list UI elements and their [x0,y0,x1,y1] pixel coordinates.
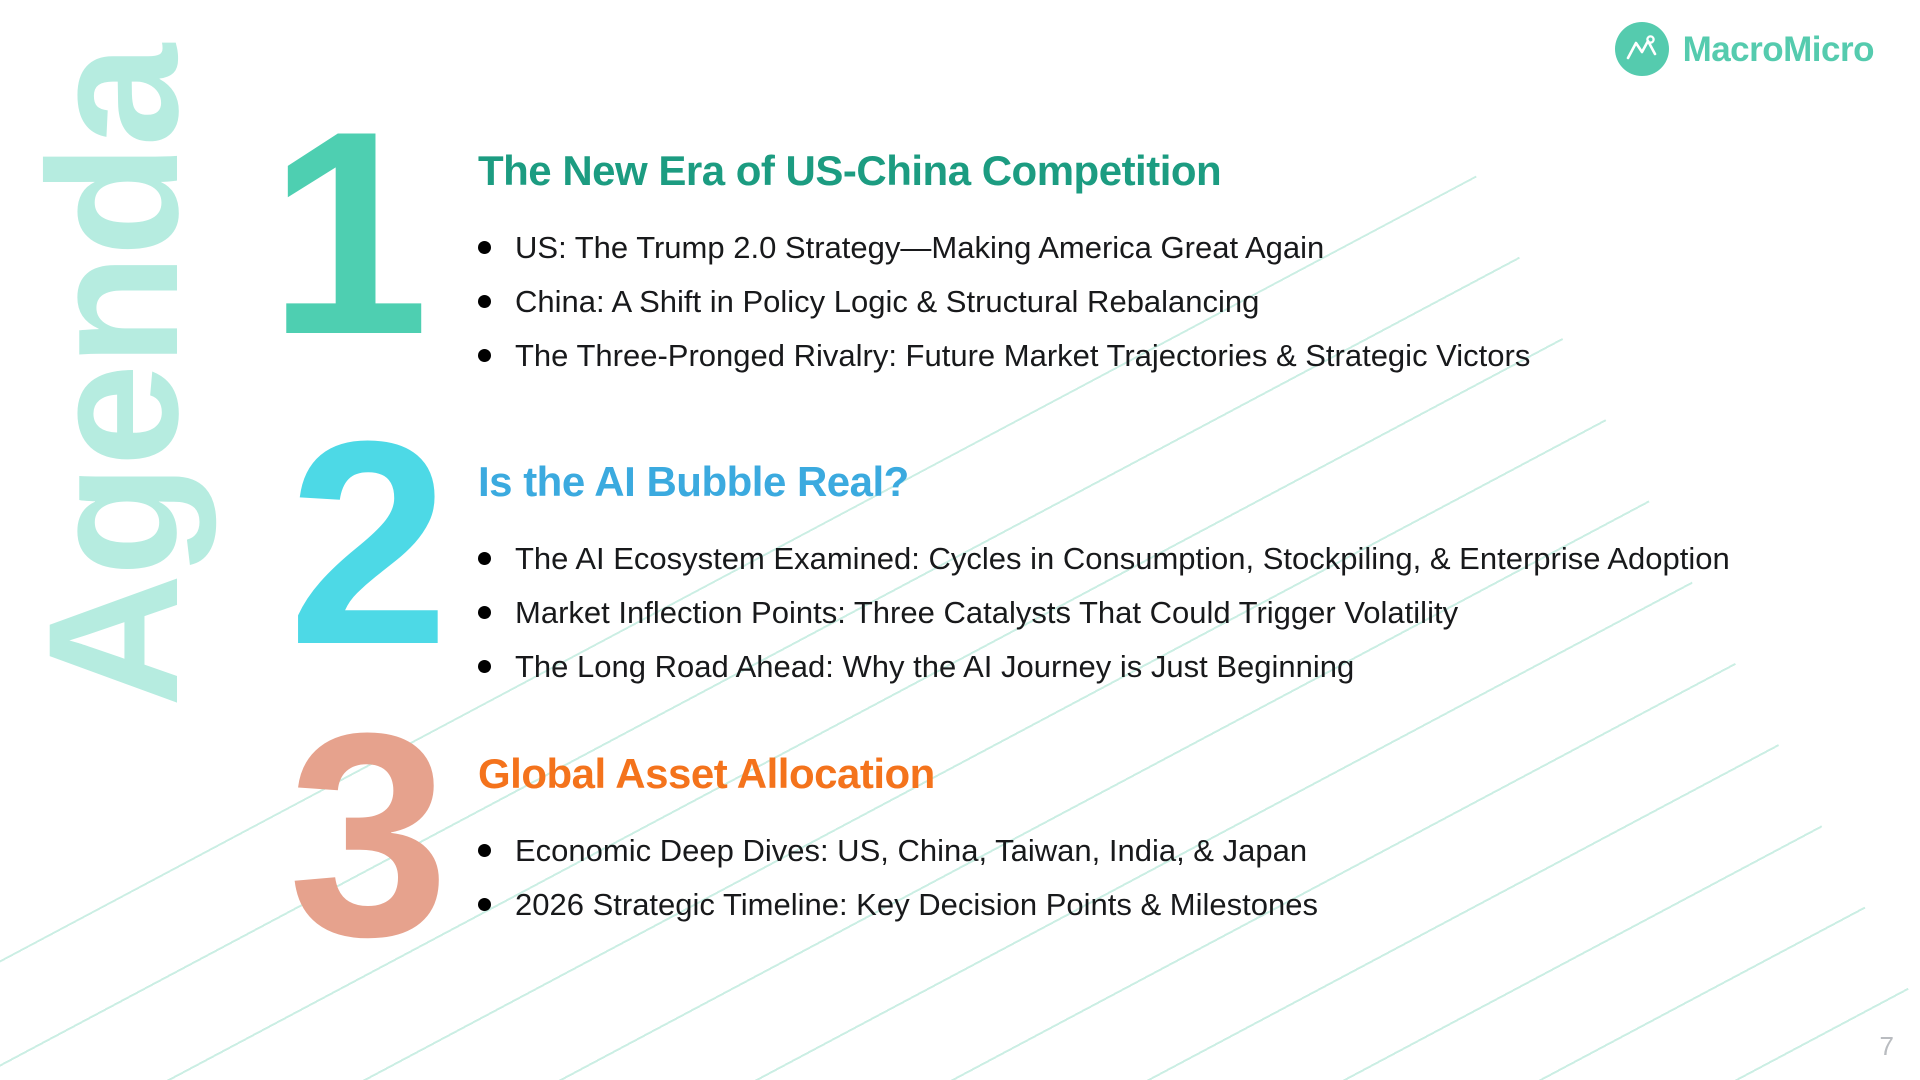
bullet-text: China: A Shift in Policy Logic & Structu… [515,286,1259,317]
list-item: Economic Deep Dives: US, China, Taiwan, … [478,835,1318,866]
agenda-sections: 1 The New Era of US-China Competition US… [0,0,1920,1080]
section-number-2: 2 [288,398,443,688]
bullet-dot-icon [478,295,491,308]
list-item: Market Inflection Points: Three Catalyst… [478,597,1730,628]
bullet-dot-icon [478,241,491,254]
section-title-1: The New Era of US-China Competition [478,148,1530,194]
list-item: The Three-Pronged Rivalry: Future Market… [478,340,1530,371]
section-bullets-3: Economic Deep Dives: US, China, Taiwan, … [478,835,1318,920]
section-number-1: 1 [268,88,423,378]
bullet-text: 2026 Strategic Timeline: Key Decision Po… [515,889,1318,920]
bullet-text: Market Inflection Points: Three Catalyst… [515,597,1458,628]
section-content-1: The New Era of US-China Competition US: … [478,148,1530,394]
bullet-dot-icon [478,606,491,619]
section-title-2: Is the AI Bubble Real? [478,459,1730,505]
bullet-dot-icon [478,349,491,362]
list-item: The AI Ecosystem Examined: Cycles in Con… [478,543,1730,574]
list-item: China: A Shift in Policy Logic & Structu… [478,286,1530,317]
section-bullets-2: The AI Ecosystem Examined: Cycles in Con… [478,543,1730,682]
bullet-text: US: The Trump 2.0 Strategy—Making Americ… [515,232,1324,263]
list-item: 2026 Strategic Timeline: Key Decision Po… [478,889,1318,920]
logo-wordmark: MacroMicro [1683,32,1874,67]
agenda-slide: Agenda MacroMicro 1 The New Era of US-Ch… [0,0,1920,1080]
section-number-3: 3 [288,690,443,980]
bullet-dot-icon [478,660,491,673]
list-item: The Long Road Ahead: Why the AI Journey … [478,651,1730,682]
bullet-dot-icon [478,552,491,565]
bullet-text: The Long Road Ahead: Why the AI Journey … [515,651,1354,682]
bullet-dot-icon [478,844,491,857]
bullet-text: The Three-Pronged Rivalry: Future Market… [515,340,1530,371]
section-bullets-1: US: The Trump 2.0 Strategy—Making Americ… [478,232,1530,371]
bullet-text: The AI Ecosystem Examined: Cycles in Con… [515,543,1730,574]
section-content-3: Global Asset Allocation Economic Deep Di… [478,751,1318,943]
page-number: 7 [1880,1031,1894,1062]
chart-line-icon [1615,22,1669,76]
list-item: US: The Trump 2.0 Strategy—Making Americ… [478,232,1530,263]
section-title-3: Global Asset Allocation [478,751,1318,797]
bullet-text: Economic Deep Dives: US, China, Taiwan, … [515,835,1307,866]
macromicro-logo[interactable]: MacroMicro [1615,22,1874,76]
bullet-dot-icon [478,898,491,911]
section-content-2: Is the AI Bubble Real? The AI Ecosystem … [478,459,1730,705]
